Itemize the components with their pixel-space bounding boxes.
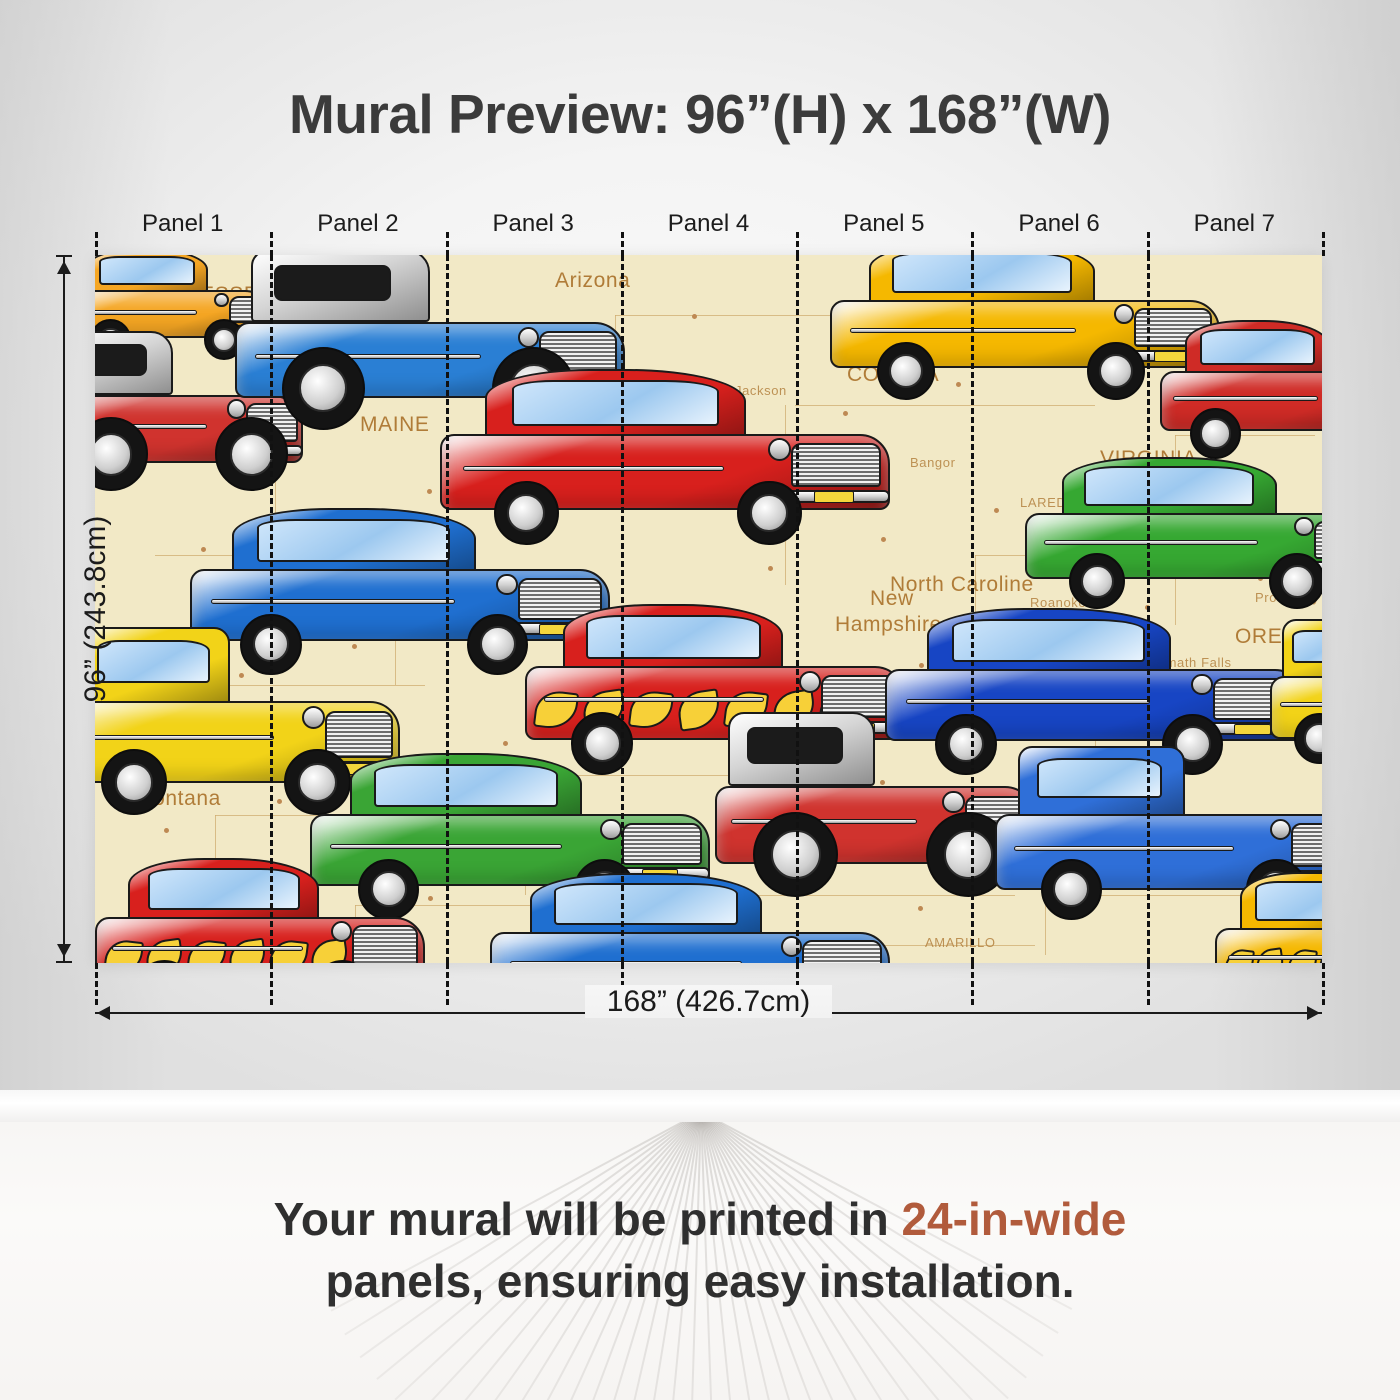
car-windshield — [148, 868, 300, 910]
car-grille — [791, 443, 881, 487]
map-label: AMARILLO — [925, 935, 996, 950]
car-windshield — [1084, 466, 1254, 506]
width-dimension-text: 168” (426.7cm) — [585, 985, 832, 1018]
panel-divider-2 — [446, 255, 449, 963]
car-license-plate — [1234, 724, 1272, 735]
car-side-trim — [510, 961, 742, 963]
panel-label-row: Panel 1Panel 2Panel 3Panel 4Panel 5Panel… — [95, 210, 1322, 250]
car-front-wheel — [1087, 342, 1145, 400]
car-grille — [1314, 521, 1322, 559]
height-dimension-label: 96” (243.8cm) — [79, 399, 113, 819]
car-red-flame-coupe-bottom — [95, 840, 425, 963]
panel-divider-5 — [971, 255, 974, 963]
divider-ext-top-6 — [1147, 232, 1150, 256]
car-license-plate — [814, 491, 855, 502]
divider-ext-top-1 — [270, 232, 273, 256]
car-front-wheel — [215, 417, 289, 491]
car-grille — [802, 940, 882, 963]
map-city-dot — [164, 828, 169, 833]
car-windshield — [1292, 630, 1322, 663]
car-headlight — [942, 791, 964, 813]
car-side-trim — [112, 946, 303, 951]
car-green-coupe-right — [1025, 440, 1322, 605]
panel-label-4: Panel 4 — [621, 210, 796, 250]
car-side-trim — [1228, 955, 1323, 960]
car-rear-wheel — [877, 342, 935, 400]
car-headlight — [768, 438, 791, 461]
car-rear-wheel — [282, 347, 365, 430]
car-yellow-flame-bottom-right — [1215, 855, 1322, 963]
height-arrow-up-icon — [57, 261, 71, 274]
width-dimension-label: 168” (426.7cm) — [95, 985, 1322, 1019]
panel-label-6: Panel 6 — [971, 210, 1146, 250]
panel-divider-4 — [796, 255, 799, 963]
car-windshield — [554, 883, 738, 925]
mural-preview-image[interactable]: ESSEEArizonaMAINECOLORANewJerseyNewHamps… — [95, 255, 1322, 963]
mural-artwork: ESSEEArizonaMAINECOLORANewJerseyNewHamps… — [95, 255, 1322, 963]
height-dimension-guide: 96” (243.8cm) — [56, 255, 72, 963]
car-headlight — [600, 819, 622, 841]
car-side-trim — [850, 328, 1076, 333]
car-windshield — [1255, 881, 1322, 921]
car-window — [95, 344, 147, 376]
car-headlight — [1294, 517, 1314, 537]
divider-ext-top-3 — [621, 232, 624, 256]
car-side-trim — [1014, 846, 1234, 851]
caption-accent-text: 24-in-wide — [901, 1193, 1126, 1245]
car-front-wheel — [467, 614, 528, 675]
panel-label-7: Panel 7 — [1147, 210, 1322, 250]
divider-ext-top-7 — [1322, 232, 1325, 256]
map-city-dot — [692, 314, 697, 319]
panel-label-3: Panel 3 — [446, 210, 621, 250]
car-windshield — [374, 764, 558, 807]
car-white-blue-wagon-bottom — [490, 855, 890, 963]
map-city-dot — [994, 508, 999, 513]
width-dimension-guide: 168” (426.7cm) — [95, 1005, 1322, 1021]
car-windshield — [892, 255, 1071, 293]
map-border-h-13 — [615, 315, 855, 316]
car-headlight — [214, 293, 228, 307]
car-side-trim — [95, 735, 274, 740]
car-flame — [628, 688, 675, 731]
panel-label-2: Panel 2 — [270, 210, 445, 250]
footer-caption: Your mural will be printed in 24-in-wide… — [0, 1188, 1400, 1312]
panel-divider-3 — [621, 255, 624, 963]
panel-label-1: Panel 1 — [95, 210, 270, 250]
car-headlight — [1191, 674, 1213, 696]
car-window — [747, 727, 843, 764]
caption-line-1: Your mural will be printed in 24-in-wide — [0, 1188, 1400, 1250]
car-windshield — [99, 256, 196, 285]
car-windshield — [586, 615, 761, 659]
car-side-trim — [1173, 396, 1318, 401]
car-front-wheel — [737, 481, 802, 546]
divider-ext-bottom-7 — [1322, 963, 1325, 1005]
car-yellow-truck-right-edge — [1270, 610, 1322, 760]
car-windshield — [257, 519, 450, 562]
car-rear-wheel — [1041, 859, 1102, 920]
divider-ext-top-5 — [971, 232, 974, 256]
car-windshield — [97, 640, 209, 683]
car-window — [274, 265, 391, 301]
car-windshield — [512, 380, 719, 426]
caption-line-2: panels, ensuring easy installation. — [0, 1250, 1400, 1312]
car-grille — [352, 925, 418, 963]
baseboard — [0, 1090, 1400, 1124]
panel-divider-1 — [270, 255, 273, 963]
caption-line-1-prefix: Your mural will be printed in — [274, 1193, 902, 1245]
car-side-trim — [463, 466, 724, 471]
divider-ext-top-4 — [796, 232, 799, 256]
panel-label-5: Panel 5 — [796, 210, 971, 250]
map-city-dot — [918, 906, 923, 911]
car-side-trim — [1044, 540, 1259, 545]
divider-ext-top-0 — [95, 232, 98, 256]
panel-divider-6 — [1147, 255, 1150, 963]
car-red-coupe-top-right — [1160, 305, 1322, 455]
divider-ext-top-2 — [446, 232, 449, 256]
car-windshield — [1200, 329, 1315, 365]
mural-preview-screenshot: Mural Preview: 96”(H) x 168”(W) Panel 1P… — [0, 0, 1400, 1400]
car-windshield — [1037, 758, 1162, 798]
map-city-dot — [768, 566, 773, 571]
car-headlight — [496, 574, 518, 596]
car-side-trim — [1280, 702, 1322, 707]
car-flame — [533, 688, 580, 731]
car-side-trim — [211, 599, 455, 604]
page-title: Mural Preview: 96”(H) x 168”(W) — [0, 82, 1400, 146]
car-windshield — [952, 619, 1145, 662]
height-dimension-line — [63, 255, 65, 963]
car-side-trim — [906, 699, 1150, 704]
height-arrow-down-icon — [57, 944, 71, 957]
map-label: Bangor — [910, 455, 956, 470]
car-side-trim — [95, 310, 197, 315]
car-side-trim — [544, 697, 764, 702]
